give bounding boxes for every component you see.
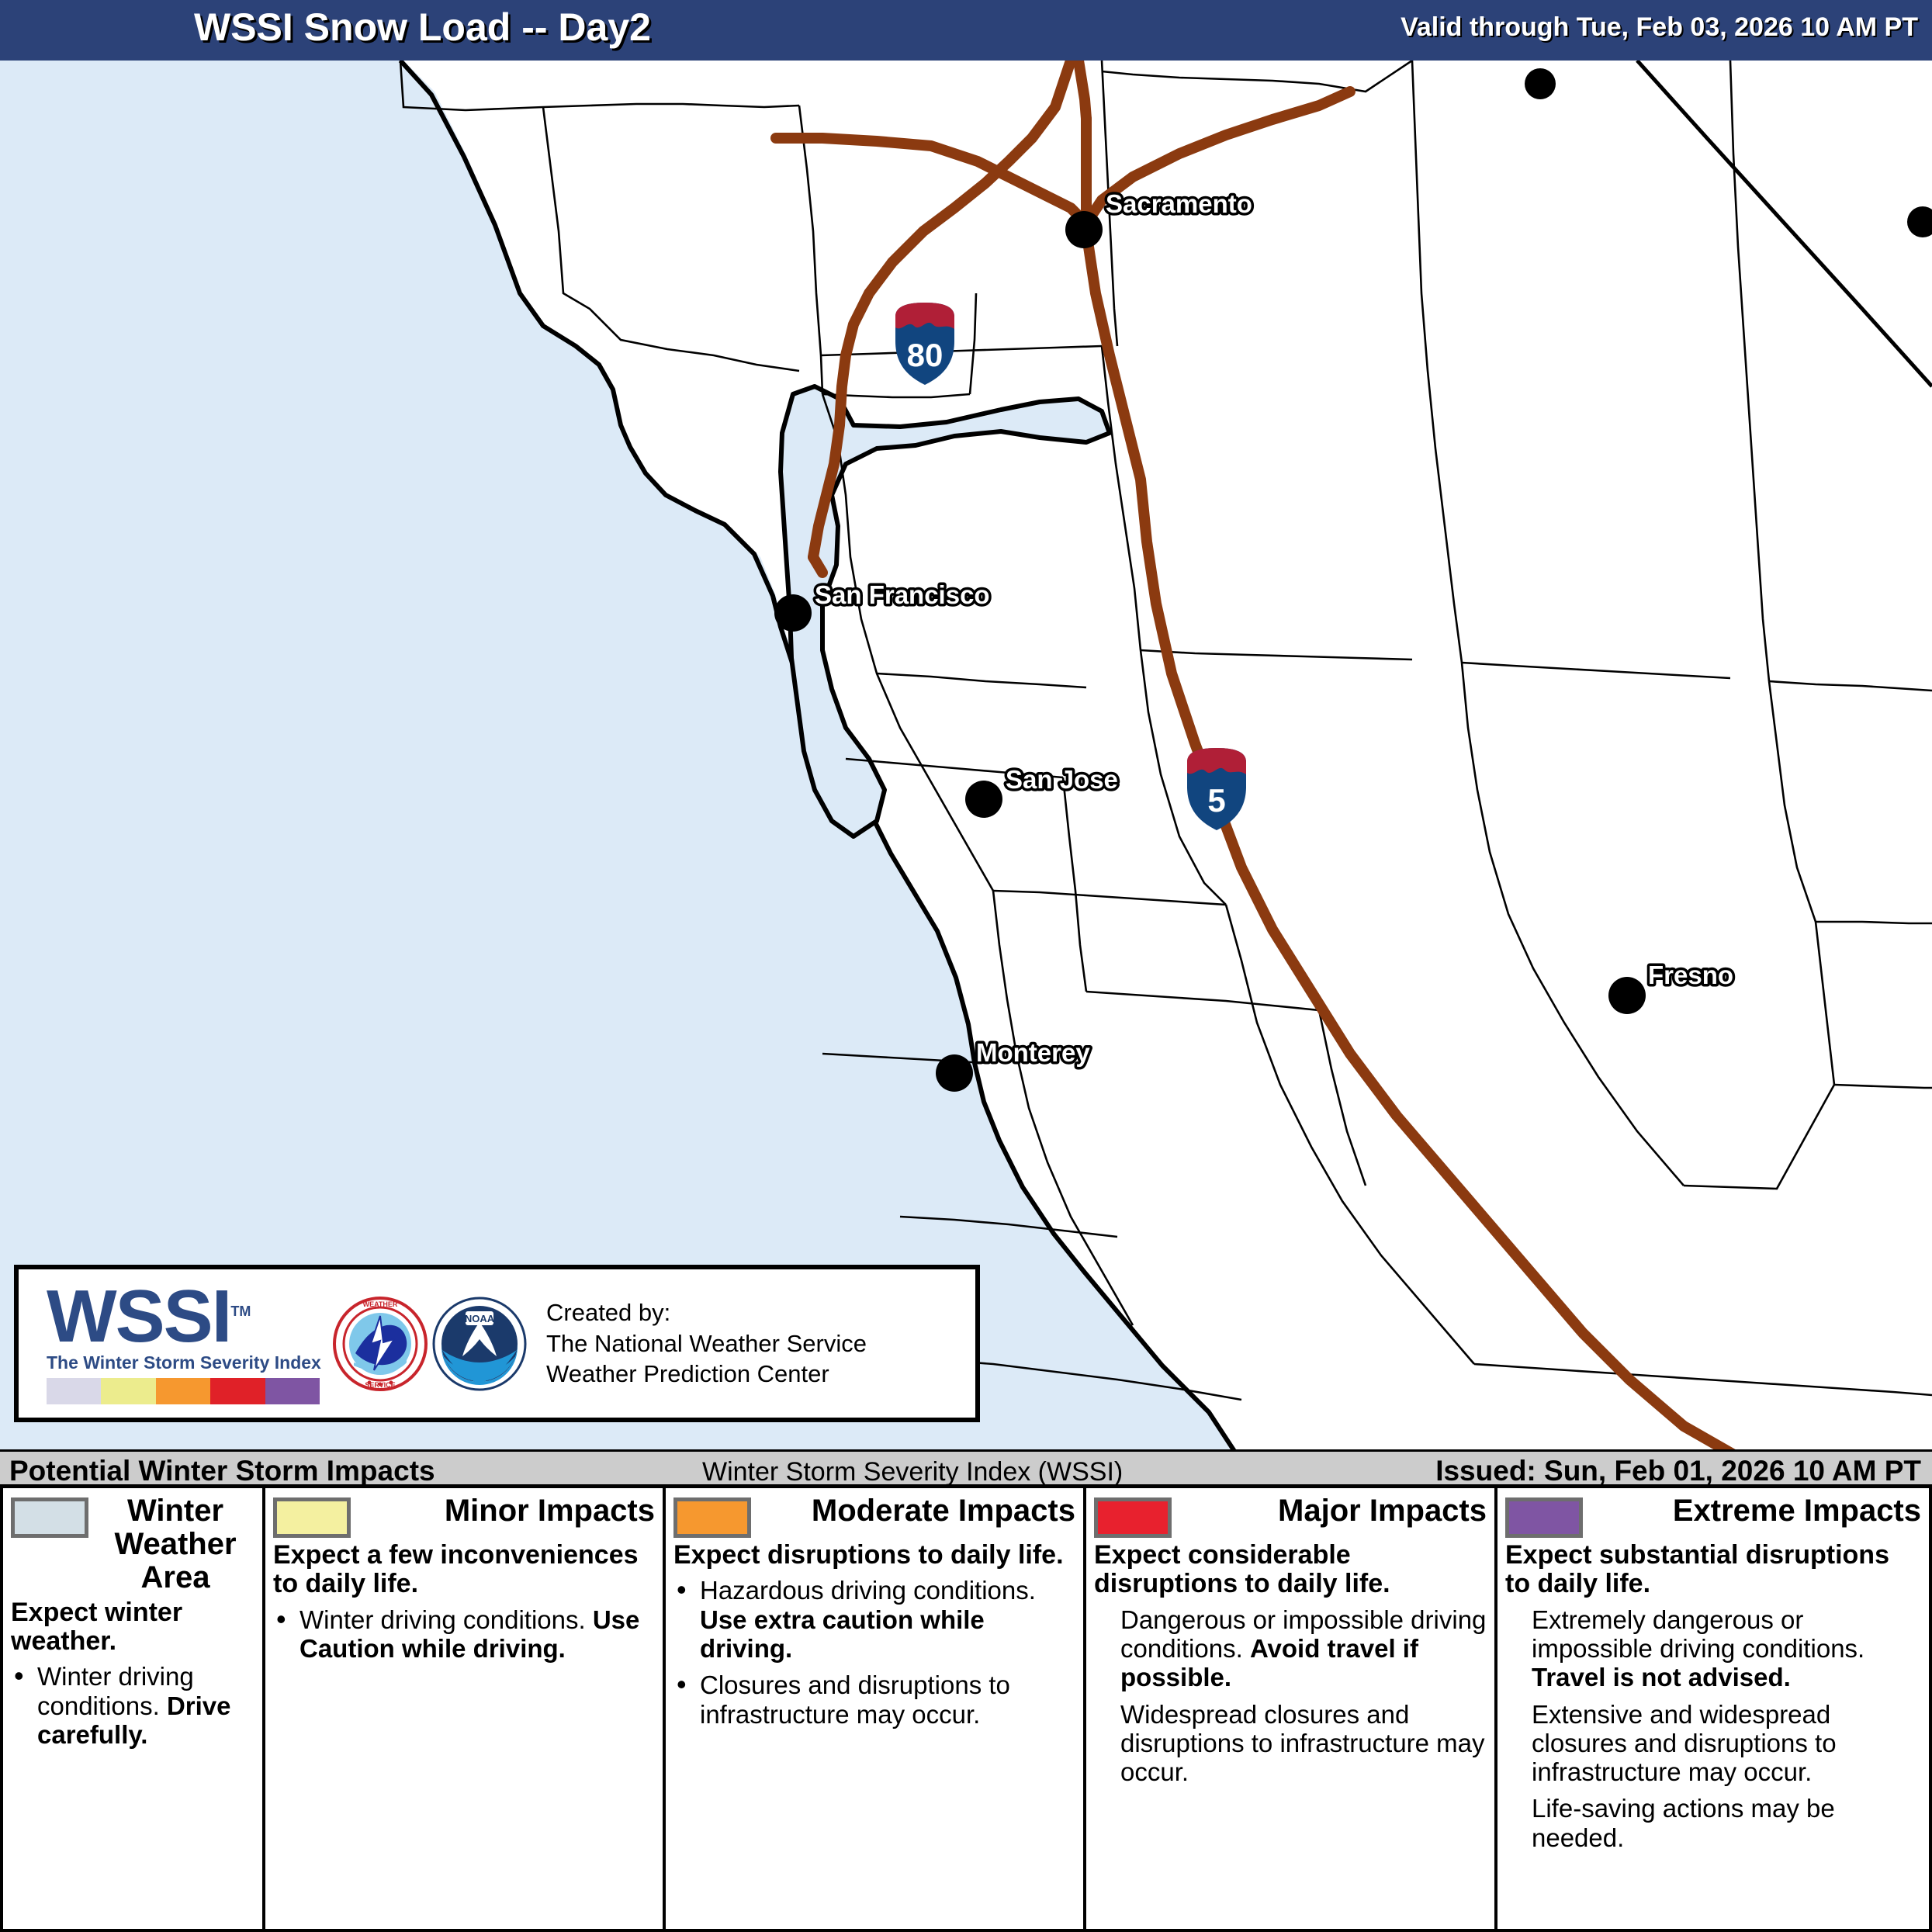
city-label-fresno: Fresno (1648, 961, 1733, 989)
bullet-plain-text: Extensive and widespread closures and di… (1532, 1700, 1837, 1787)
created-by-line-2: The National Weather Service (546, 1328, 975, 1359)
city-dot-sacramento (1065, 211, 1103, 248)
created-by-line-3: Weather Prediction Center (546, 1359, 975, 1390)
legend-bullets: Dangerous or impossible driving conditio… (1094, 1605, 1487, 1787)
bullet-plain-text: Closures and disruptions to infrastructu… (700, 1671, 1010, 1728)
colorbar-swatch-major (210, 1378, 265, 1404)
created-by-line-1: Created by: (546, 1297, 975, 1328)
forecast-map[interactable]: Sacramento San Francisco San Jose Fresno… (0, 61, 1932, 1457)
bullet-plain-text: Life-saving actions may be needed. (1532, 1794, 1835, 1851)
legend-bullet: Widespread closures and disruptions to i… (1094, 1700, 1487, 1787)
nws-seal-icon: WEATHER SERVICE (332, 1296, 428, 1392)
legend-bullet: Winter driving conditions. Use Caution w… (273, 1605, 655, 1664)
page-title: WSSI Snow Load -- Day2 (194, 5, 651, 50)
legend-subtitle-major-impacts: Expect considerable disruptions to daily… (1094, 1541, 1487, 1599)
colorbar-swatch-moderate (156, 1378, 210, 1404)
legend-bullets: Extremely dangerous or impossible drivin… (1505, 1605, 1921, 1852)
legend-bullet: Extensive and widespread closures and di… (1505, 1700, 1921, 1787)
bullet-plain-text: Extremely dangerous or impossible drivin… (1532, 1605, 1864, 1663)
legend-header: Moderate Impacts (673, 1494, 1075, 1538)
legend-bullets: Winter driving conditions. Use Caution w… (273, 1605, 655, 1664)
bullet-plain-text: Widespread closures and disruptions to i… (1120, 1700, 1485, 1787)
legend-header: Minor Impacts (273, 1494, 655, 1538)
impacts-bar: Potential Winter Storm Impacts Winter St… (0, 1449, 1932, 1488)
colorbar-swatch-winter-weather (47, 1378, 101, 1404)
colorbar-swatch-minor (101, 1378, 155, 1404)
legend-subtitle-minor-impacts: Expect a few inconveniences to daily lif… (273, 1541, 655, 1599)
city-dot-unnamed-north (1525, 68, 1556, 99)
bullet-plain-text: Winter driving conditions. (299, 1605, 593, 1634)
wssi-wordmark-text: WSSI (47, 1275, 230, 1358)
issued-text: Issued: Sun, Feb 01, 2026 10 AM PT (1435, 1455, 1921, 1487)
legend-swatch-moderate-impacts (673, 1497, 751, 1538)
legend-bullet: Closures and disruptions to infrastructu… (673, 1671, 1075, 1729)
legend-bullets: Hazardous driving conditions. Use extra … (673, 1576, 1075, 1728)
city-label-monterey: Monterey (976, 1038, 1090, 1067)
page-header: WSSI Snow Load -- Day2 Valid through Tue… (0, 0, 1932, 61)
legend-header: Extreme Impacts (1505, 1494, 1921, 1538)
bullet-bold-text: Travel is not advised. (1532, 1663, 1791, 1691)
city-dot-fresno (1608, 977, 1646, 1014)
colorbar-swatch-extreme (265, 1378, 320, 1404)
city-label-san-francisco: San Francisco (815, 580, 990, 609)
legend-title-minor-impacts: Minor Impacts (358, 1494, 655, 1528)
wssi-tagline: The Winter Storm Severity Index (47, 1352, 329, 1373)
legend-bullet: Life-saving actions may be needed. (1505, 1794, 1921, 1852)
legend-title-winter-weather-area: Winter Weather Area (96, 1494, 254, 1595)
legend-column-minor-impacts[interactable]: Minor Impacts Expect a few inconvenience… (265, 1488, 666, 1929)
wssi-colorbar (47, 1378, 320, 1404)
impact-legend: Winter Weather Area Expect winter weathe… (0, 1488, 1932, 1932)
legend-column-moderate-impacts[interactable]: Moderate Impacts Expect disruptions to d… (666, 1488, 1086, 1929)
legend-bullet: Hazardous driving conditions. Use extra … (673, 1576, 1075, 1663)
legend-column-winter-weather-area[interactable]: Winter Weather Area Expect winter weathe… (3, 1488, 265, 1929)
noaa-seal-icon: NOAA (431, 1296, 528, 1392)
wssi-wordmark: WSSITM (47, 1283, 329, 1351)
legend-column-extreme-impacts[interactable]: Extreme Impacts Expect substantial disru… (1497, 1488, 1929, 1929)
svg-text:WEATHER: WEATHER (363, 1300, 398, 1308)
created-by-block: Created by: The National Weather Service… (531, 1297, 975, 1390)
valid-through-text: Valid through Tue, Feb 03, 2026 10 AM PT (1401, 12, 1918, 43)
legend-swatch-extreme-impacts (1505, 1497, 1583, 1538)
wssi-brand: WSSITM The Winter Storm Severity Index (19, 1283, 329, 1404)
impacts-bar-subtitle: Winter Storm Severity Index (WSSI) (702, 1457, 1123, 1487)
legend-bullet: Winter driving conditions. Drive careful… (11, 1662, 254, 1749)
legend-bullet: Extremely dangerous or impossible drivin… (1505, 1605, 1921, 1692)
legend-column-major-impacts[interactable]: Major Impacts Expect considerable disrup… (1086, 1488, 1497, 1929)
city-label-san-jose: San Jose (1006, 765, 1118, 794)
legend-title-major-impacts: Major Impacts (1179, 1494, 1487, 1528)
map-svg: Sacramento San Francisco San Jose Fresno… (0, 61, 1932, 1457)
legend-header: Major Impacts (1094, 1494, 1487, 1538)
legend-bullets: Winter driving conditions. Drive careful… (11, 1662, 254, 1749)
legend-swatch-minor-impacts (273, 1497, 351, 1538)
bullet-bold-text: Use extra caution while driving. (700, 1605, 985, 1663)
shield-number-80: 80 (907, 337, 943, 373)
wssi-logo-box: WSSITM The Winter Storm Severity Index W… (14, 1265, 980, 1422)
legend-bullet: Dangerous or impossible driving conditio… (1094, 1605, 1487, 1692)
city-dot-monterey (936, 1054, 973, 1092)
legend-subtitle-winter-weather-area: Expect winter weather. (11, 1598, 254, 1657)
legend-title-moderate-impacts: Moderate Impacts (759, 1494, 1075, 1528)
legend-header: Winter Weather Area (11, 1494, 254, 1595)
trademark-symbol: TM (230, 1304, 251, 1319)
legend-title-extreme-impacts: Extreme Impacts (1591, 1494, 1921, 1528)
legend-subtitle-moderate-impacts: Expect disruptions to daily life. (673, 1541, 1075, 1570)
shield-number-5: 5 (1207, 782, 1225, 819)
impacts-bar-title: Potential Winter Storm Impacts (9, 1455, 435, 1487)
bullet-plain-text: Hazardous driving conditions. (700, 1576, 1036, 1605)
legend-swatch-major-impacts (1094, 1497, 1172, 1538)
legend-subtitle-extreme-impacts: Expect substantial disruptions to daily … (1505, 1541, 1921, 1599)
city-label-sacramento: Sacramento (1106, 189, 1252, 218)
agency-seals: WEATHER SERVICE NOAA (329, 1296, 531, 1392)
city-dot-san-francisco (774, 594, 812, 632)
svg-text:NOAA: NOAA (465, 1313, 495, 1324)
city-dot-san-jose (965, 781, 1002, 818)
legend-swatch-winter-weather-area (11, 1497, 88, 1538)
